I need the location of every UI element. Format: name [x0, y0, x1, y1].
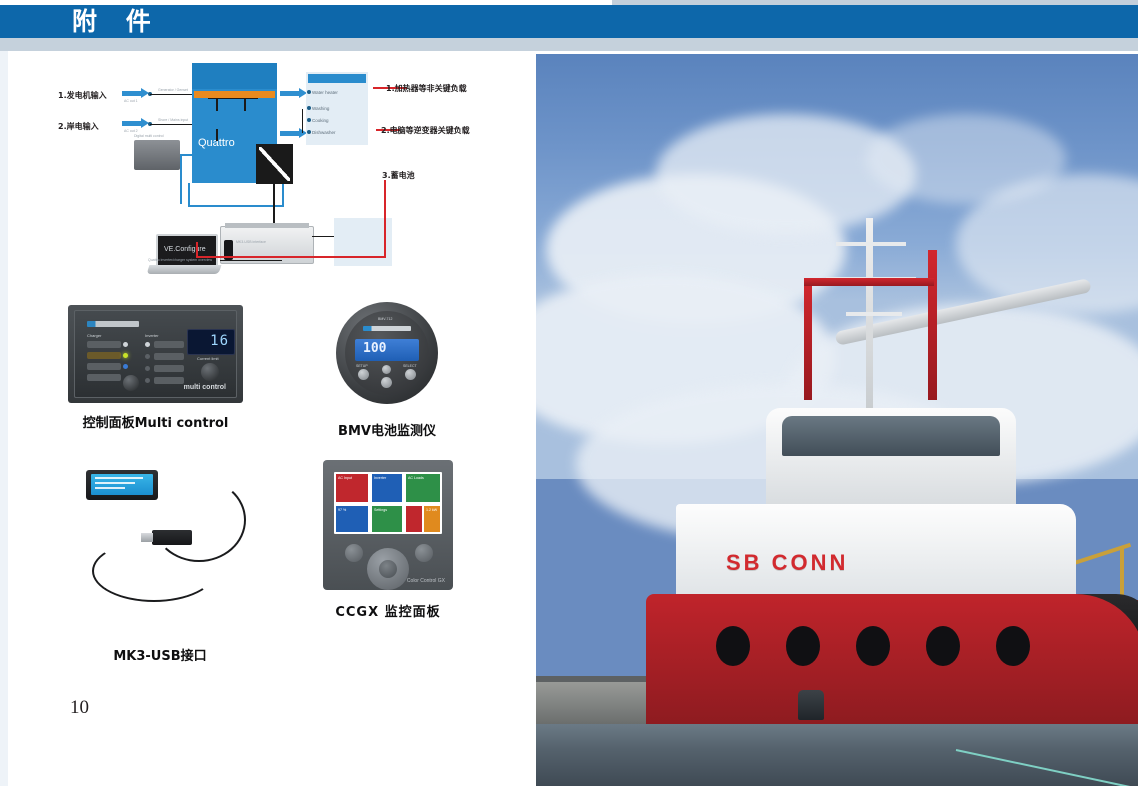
multi-control-indicator — [87, 374, 121, 381]
ccgx-tile-title: AC Input — [338, 476, 352, 480]
red-mast-post — [804, 280, 812, 400]
led-absorption — [123, 364, 128, 369]
led-low-battery — [145, 366, 150, 371]
breaker-stem — [216, 129, 218, 141]
callout-output-1: 1.加热器等非关键负载 — [386, 83, 467, 94]
generator-input-arrow — [122, 91, 142, 96]
ccgx-tile-title: 97 % — [338, 508, 346, 512]
victron-logo-icon — [87, 321, 139, 327]
multi-control-brand: multi control — [184, 384, 226, 391]
header-blue-bar — [0, 5, 1138, 38]
laptop-illustration: VE.Configure — [148, 234, 220, 276]
led-inverter-on — [145, 342, 150, 347]
multi-control-label-strip — [154, 341, 184, 348]
callout-input-1: 1.发电机输入 — [58, 90, 107, 101]
sticker-line — [95, 482, 135, 484]
caption-ccgx: CCGX 监控面板 — [318, 601, 458, 620]
bmv-display: 100 — [355, 339, 419, 361]
sticker-line — [95, 487, 125, 489]
node-dot — [307, 90, 311, 94]
ccgx-button-left[interactable] — [345, 544, 363, 562]
inverter-slash-icon — [259, 147, 290, 181]
ccgx-tile-ac-loads: AC Loads — [406, 474, 440, 502]
system-diagram: AC out 1 AC out 2 Generator / Genset Sho… — [48, 58, 518, 263]
callout-output-3: 3.蓄电池 — [382, 170, 415, 181]
mast-yard — [846, 312, 902, 316]
multi-control-left-heading: Charger — [87, 333, 101, 338]
multi-control-display-value: 16 — [210, 333, 229, 349]
ac-out-1-arrow — [280, 91, 300, 96]
laptop-screen: VE.Configure — [156, 234, 218, 269]
red-cross-member — [804, 278, 934, 286]
page-canvas: 附 件 SB CON — [0, 0, 1138, 786]
mast-yard — [836, 242, 906, 246]
product-image-mk3-usb — [86, 470, 158, 500]
ac-panel-row: Cooking — [312, 118, 329, 124]
ac-in-2-label: AC out 2 — [124, 129, 138, 133]
left-gutter — [0, 51, 8, 786]
ccgx-button-right[interactable] — [415, 544, 433, 562]
wire-vebus-down — [180, 154, 182, 204]
header-grey-bar — [0, 38, 1138, 51]
fender-tire — [716, 626, 750, 666]
led-temperature — [145, 378, 150, 383]
product-image-bmv: 100 SETUP SELECT BMV-712 — [336, 302, 438, 404]
bmv-button-setup[interactable] — [358, 369, 369, 380]
callout-input-2: 2.岸电输入 — [58, 121, 99, 132]
inverter-block — [256, 144, 293, 184]
ccgx-tile-battery: 97 % — [336, 506, 368, 532]
breaker-stem — [244, 99, 246, 111]
current-limit-knob[interactable] — [201, 363, 219, 381]
ac-panel-row: Dishwasher — [312, 130, 336, 136]
caption-mk3-usb: MK3-USB接口 — [60, 645, 260, 664]
caption-bmv: BMV电池监测仪 — [336, 420, 438, 439]
ccgx-tile-title: AC Loads — [408, 476, 424, 480]
usb-cable-loop — [92, 540, 216, 602]
fender-tire — [856, 626, 890, 666]
ccgx-tile-solar: 1.2 kW — [424, 506, 440, 532]
ccgx-tile-inverter: Inverter — [372, 474, 402, 502]
battery-to-monitor-wire — [312, 236, 336, 237]
panel-riser — [302, 109, 303, 133]
quay-bollard — [798, 690, 824, 720]
victron-logo-icon — [363, 326, 411, 331]
multi-control-display: 16 — [187, 329, 235, 355]
bmv-button-label-setup: SETUP — [356, 364, 368, 368]
bmv-button-label-select: SELECT — [403, 364, 417, 368]
led-mains-on — [123, 342, 128, 347]
transfer-switch-device — [134, 140, 180, 170]
ac-in-1-label: AC out 1 — [124, 99, 138, 103]
tugboat-photo: SB CONN — [536, 54, 1138, 786]
product-image-multi-control: Charger Inverter 16 Current limit multi — [68, 305, 243, 403]
leader-line-3-vertical — [384, 180, 386, 258]
shore-input-arrow — [122, 121, 142, 126]
ac-panel-row: Washing — [312, 106, 329, 112]
ccgx-brand: Color Control GX — [407, 578, 445, 584]
multi-control-label-strip — [154, 353, 184, 360]
current-limit-label: Current limit — [197, 356, 219, 361]
mode-selector-knob[interactable] — [123, 375, 139, 391]
leader-line-3-riser — [196, 242, 198, 258]
ccgx-screen: AC Input Inverter AC Loads 97 % Settings… — [334, 472, 442, 534]
sticker-line — [95, 477, 143, 479]
bmv-button-plus[interactable] — [382, 365, 391, 374]
multi-control-label-strip — [154, 365, 184, 372]
bmv-button-select[interactable] — [405, 369, 416, 380]
caption-multi-control: 控制面板Multi control — [68, 412, 243, 431]
ac-out-2-arrow — [280, 131, 300, 136]
multi-control-indicator — [87, 352, 121, 359]
led-float — [123, 353, 128, 358]
diagram-footnote: Quattro inverter/charger system overview — [148, 258, 212, 262]
ac-panel-row: Water heater — [312, 90, 338, 96]
ccgx-navigation-pad[interactable] — [367, 548, 409, 590]
quattro-orange-band — [194, 91, 275, 98]
fender-tire — [996, 626, 1030, 666]
bus-bar — [208, 98, 258, 99]
cloud-shape — [866, 114, 1066, 204]
ccgx-tile-extra — [406, 506, 422, 532]
ac-distribution-panel: Water heater Washing Cooking Dishwasher — [306, 72, 368, 145]
ccgx-tile-settings: Settings — [372, 506, 402, 532]
node-dot — [307, 106, 311, 110]
dc-wire — [273, 184, 275, 228]
quattro-top-band — [192, 63, 277, 89]
laptop-screen-text: VE.Configure — [164, 246, 206, 253]
multi-control-faceplate: Charger Inverter 16 Current limit multi — [74, 310, 237, 398]
mk3-label-sticker — [91, 474, 153, 495]
leader-line-3-horizontal — [196, 256, 386, 258]
ccgx-tile-title: Settings — [374, 508, 387, 512]
multi-control-right-heading: Inverter — [145, 333, 159, 338]
battery-bank — [220, 226, 314, 264]
multi-control-indicator — [87, 363, 121, 370]
ac-panel-header — [308, 74, 366, 83]
ccgx-tile-title: 1.2 kW — [426, 508, 437, 512]
vessel-name: SB CONN — [726, 550, 848, 576]
product-image-ccgx: AC Input Inverter AC Loads 97 % Settings… — [323, 460, 453, 590]
usb-wire — [220, 260, 282, 261]
page-title: 附 件 — [72, 8, 161, 36]
wheelhouse-windows — [782, 416, 1000, 456]
callout-output-2: 2.电脑等逆变器关键负载 — [381, 125, 470, 136]
dongle-caption: MK3-USB interface — [236, 240, 266, 244]
photo-water — [536, 724, 1138, 786]
breaker-stem — [216, 99, 218, 111]
multi-control-label-strip — [154, 377, 184, 384]
fender-tire — [786, 626, 820, 666]
red-mast-post — [928, 250, 937, 400]
quattro-base-outline — [188, 183, 284, 207]
shore-source-label: Shore / Mains input — [158, 118, 188, 122]
laptop-base — [147, 265, 222, 274]
generator-source-label: Generator / Genset — [158, 88, 188, 92]
page-number: 10 — [70, 697, 89, 719]
battery-terminal-strip — [225, 223, 309, 228]
bmv-faceplate: 100 SETUP SELECT BMV-712 — [345, 311, 429, 395]
ccgx-tile-ac-input: AC Input — [336, 474, 368, 502]
node-dot — [307, 130, 311, 134]
bmv-display-value: 100 — [363, 341, 386, 356]
node-dot — [307, 118, 311, 122]
bmv-button-minus[interactable] — [381, 377, 392, 388]
transfer-switch-label: Digital multi control — [134, 134, 164, 138]
bmv-model-label: BMV-712 — [378, 317, 392, 321]
multi-control-indicator — [87, 341, 121, 348]
led-overload — [145, 354, 150, 359]
fender-tire — [926, 626, 960, 666]
ccgx-tile-title: Inverter — [374, 476, 386, 480]
usb-connector — [152, 530, 192, 545]
